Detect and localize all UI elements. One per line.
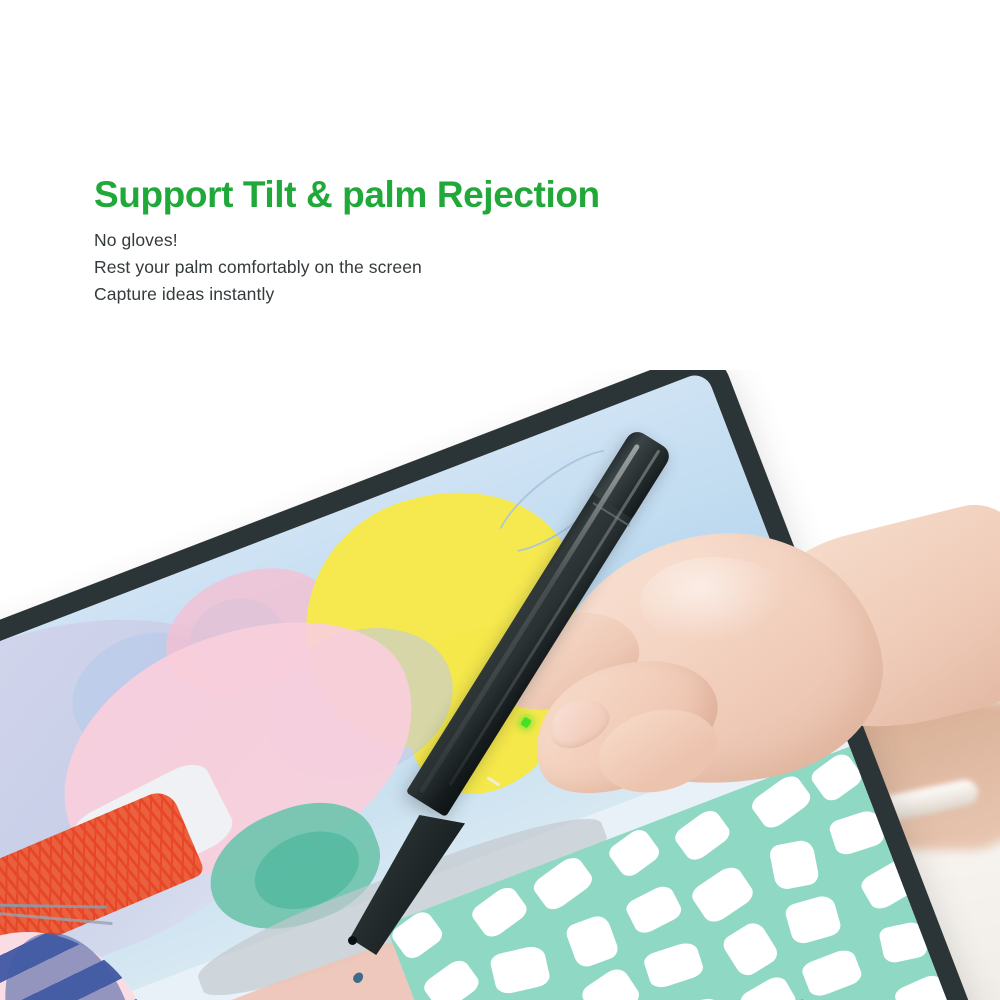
confetti-dot [351, 970, 365, 984]
checker-chip [720, 918, 781, 980]
checker-chip [489, 944, 552, 996]
feature-line-3: Capture ideas instantly [94, 281, 854, 308]
checker-chip [579, 964, 643, 1000]
checker-chip [564, 912, 621, 970]
product-photo [0, 370, 1000, 1000]
knuckle-highlight [640, 557, 790, 647]
feature-line-2: Rest your palm comfortably on the screen [94, 254, 854, 281]
page-title: Support Tilt & palm Rejection [94, 176, 854, 213]
checker-chip [800, 946, 865, 999]
promo-image: Support Tilt & palm Rejection No gloves!… [0, 0, 1000, 1000]
hand [430, 465, 950, 895]
feature-line-1: No gloves! [94, 227, 854, 254]
checker-chip [784, 893, 843, 946]
copy-block: Support Tilt & palm Rejection No gloves!… [94, 176, 854, 308]
checker-chip [738, 973, 799, 1000]
checker-chip [642, 939, 706, 990]
checker-chip [421, 956, 482, 1000]
